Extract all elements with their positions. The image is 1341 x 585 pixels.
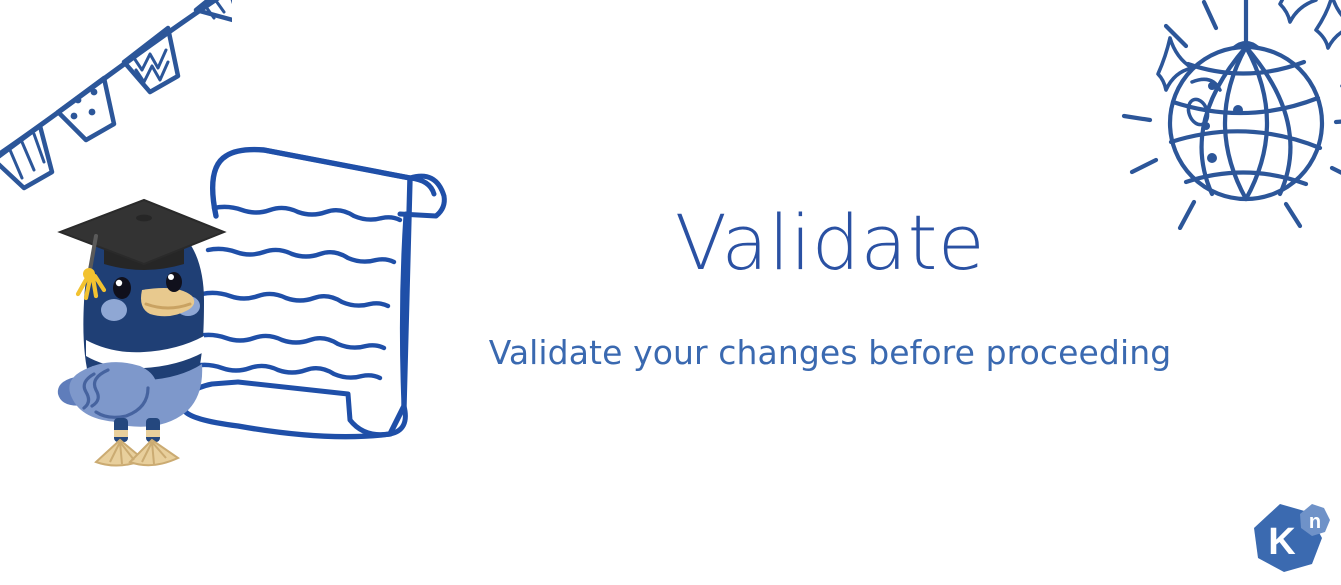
logo-heptagon	[1254, 504, 1322, 572]
slide-canvas: Validate Validate your changes before pr…	[0, 0, 1341, 585]
party-bunting-icon	[0, 0, 232, 193]
graduate-bird-mascot	[52, 190, 232, 470]
logo-letter-k: K	[1268, 521, 1296, 563]
page-subtitle: Validate your changes before proceeding	[470, 333, 1190, 373]
logo-letter-n: n	[1309, 511, 1321, 533]
logo-badge-heptagon	[1300, 504, 1330, 536]
text-block: Validate Validate your changes before pr…	[470, 205, 1190, 373]
disco-ball-icon	[1120, 0, 1341, 230]
page-title: Validate	[470, 205, 1190, 281]
certificate-scroll-icon	[178, 138, 468, 458]
kn-logo: K n	[1246, 498, 1334, 580]
